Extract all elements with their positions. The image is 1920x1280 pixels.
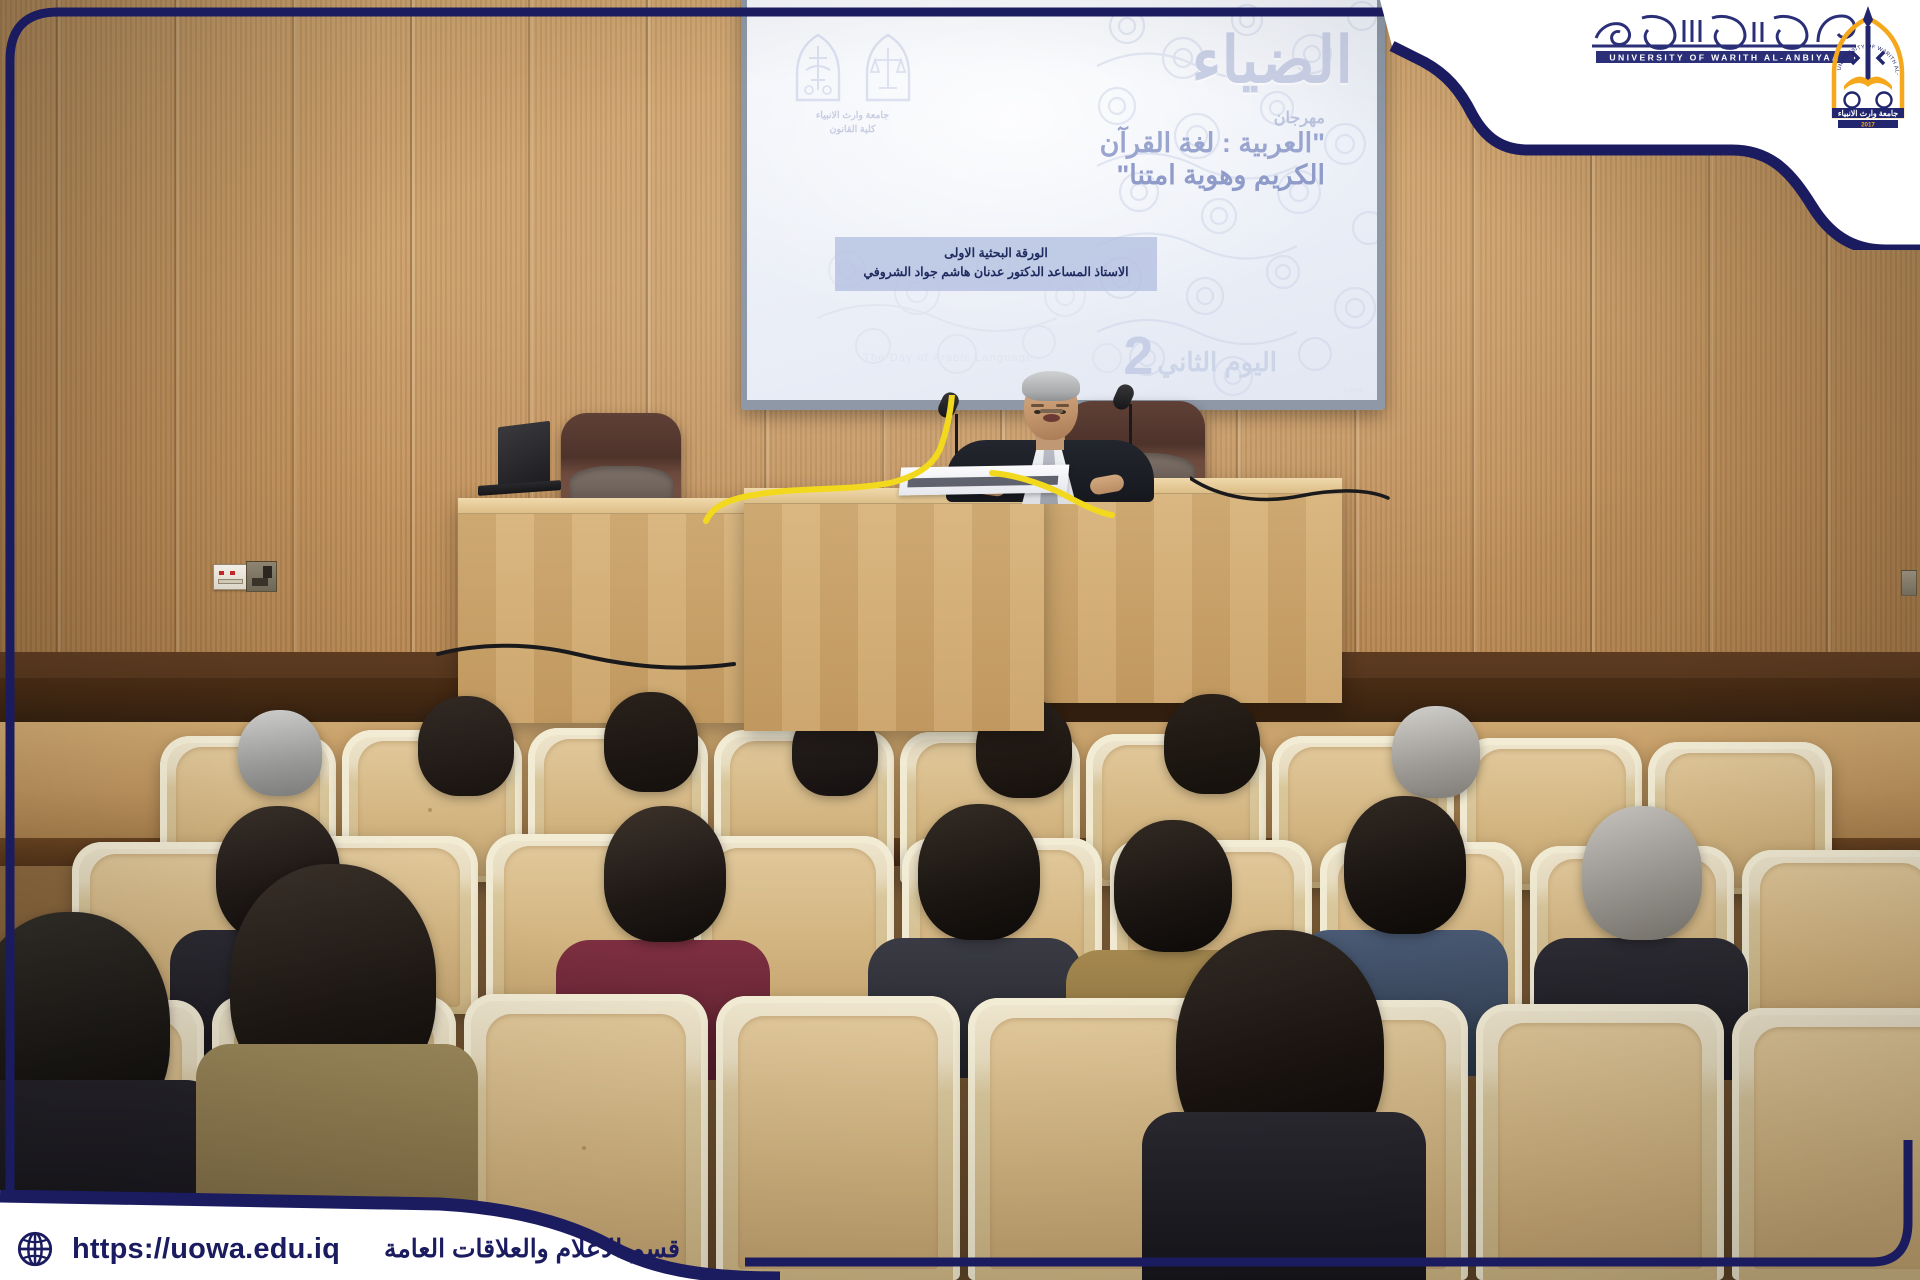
slide-kicker: مهرجان [875, 108, 1325, 128]
attendee-head [1392, 706, 1480, 798]
socket-indicator-lights [219, 571, 235, 575]
attendee-head [418, 696, 514, 796]
slide-paper-label: الورقة البحثية الاولى [845, 244, 1147, 263]
socket-pin-holes [252, 578, 268, 586]
emblem-arabic-text: جامعة وارث الانبياء [1838, 109, 1898, 119]
website-url[interactable]: https://uowa.edu.iq [72, 1233, 340, 1266]
slide-day-label: اليوم الثاني [1157, 347, 1277, 378]
globe-icon [16, 1230, 54, 1268]
footer-content: https://uowa.edu.iq قسم الاعلام والعلاقا… [0, 1218, 900, 1280]
wordmark-latin-text: UNIVERSITY OF WARITH AL-ANBIYAA [1609, 53, 1840, 63]
auditorium-seat [1742, 850, 1920, 1030]
office-chair-left [561, 413, 681, 511]
slide-decorative-wordmark: الضياء [933, 30, 1353, 91]
black-floor-cable [436, 640, 736, 690]
laptop-screen [498, 421, 550, 489]
attendee-head [604, 806, 726, 942]
attendee-head [604, 692, 698, 792]
wall-socket-plate [213, 564, 247, 590]
attendee-head [1164, 694, 1260, 794]
socket-outlet [218, 579, 243, 584]
university-seal-emblem: UNIVERSITY OF WARITH AL-ANBIYAA جامعة وا… [1818, 4, 1918, 130]
slide-english-caption: The Day of Arabic Language [863, 352, 1034, 364]
slide-title-line1: "العربية : لغة القرآن [875, 128, 1325, 160]
slide-corner-tag: uowa [1344, 387, 1363, 394]
mic-cable-right [1190, 470, 1390, 520]
attendee-head [1582, 806, 1702, 940]
attendee-torso [1142, 1112, 1426, 1280]
wall-socket-right [1901, 570, 1917, 596]
svg-text:UNIVERSITY OF WARITH AL-ANBIYA: UNIVERSITY OF WARITH AL-ANBIYAA [1818, 4, 1900, 76]
switch-rocker [263, 566, 272, 578]
college-of-law-emblem-faded-icon [859, 32, 917, 106]
emblem-year-text: 2017 [1861, 121, 1875, 128]
auditorium-seat [1732, 1008, 1920, 1280]
attendee-head [1344, 796, 1466, 934]
attendee-head [1114, 820, 1232, 952]
slide-paper-badge: الورقة البحثية الاولى الاستاذ المساعد ال… [835, 237, 1157, 291]
slide-day-marker: اليوم الثاني 2 [1123, 335, 1277, 378]
yellow-audio-cable [700, 395, 1240, 525]
slide-title-line2: الكريم وهوية امتنا" [875, 160, 1325, 192]
department-label: قسم الاعلام والعلاقات العامة [384, 1234, 680, 1264]
attendee-head [918, 804, 1040, 940]
auditorium-seat [1476, 1004, 1724, 1280]
university-emblem-faded-icon [789, 32, 847, 106]
slide-day-number: 2 [1123, 335, 1153, 378]
projector-screen: جامعة وارث الانبياء كلية القانون الضياء … [747, 0, 1377, 400]
attendee-head [238, 710, 322, 796]
poster-root: جامعة وارث الانبياء كلية القانون الضياء … [0, 0, 1920, 1280]
wall-switch-plate [246, 561, 277, 592]
slide-title-block: مهرجان "العربية : لغة القرآن الكريم وهوي… [875, 108, 1325, 192]
slide-presenter-name: الاستاذ المساعد الدكتور عدنان هاشم جواد … [845, 263, 1147, 282]
